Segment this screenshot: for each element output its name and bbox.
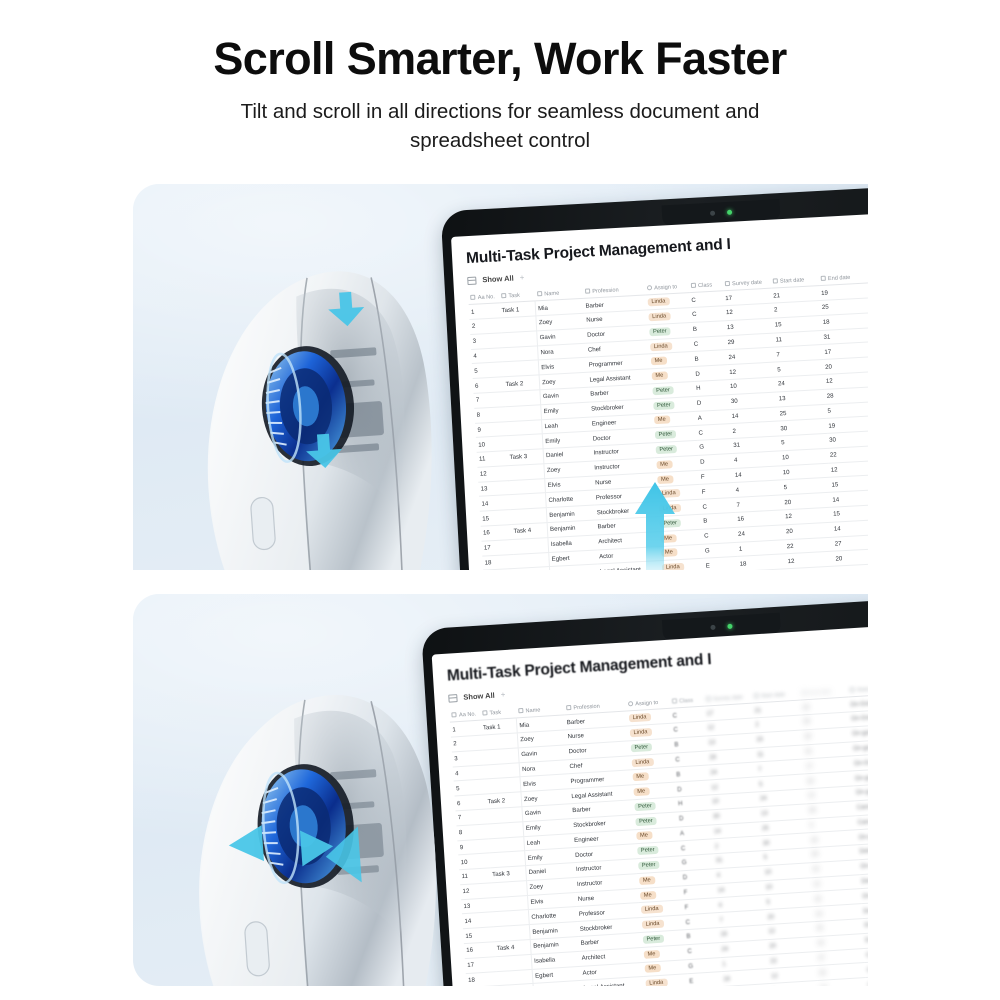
view-tab-show-all[interactable]: Show All: [463, 691, 495, 702]
column-header-label: Task: [489, 710, 501, 717]
person-icon: [628, 701, 633, 706]
assignee-tag[interactable]: Me: [656, 460, 672, 469]
column-header-label: End date: [828, 275, 851, 282]
cell-no[interactable]: 2: [469, 318, 500, 334]
cell-status[interactable]: On-Going: [867, 280, 868, 298]
cell-status[interactable]: On-going: [852, 768, 868, 786]
column-header-label: Start date: [780, 277, 805, 284]
add-view-button[interactable]: +: [500, 690, 505, 699]
cell-no[interactable]: 15: [480, 510, 511, 526]
cell-no[interactable]: 9: [475, 421, 506, 437]
assignee-tag[interactable]: Me: [654, 416, 670, 425]
column-header-label: Class: [698, 282, 712, 289]
calendar-icon: [724, 281, 729, 286]
assignee-tag[interactable]: Peter: [635, 816, 657, 825]
column-header-label: Status: [857, 686, 868, 693]
cell-status[interactable]: On-going: [851, 738, 868, 756]
table-view-icon: [448, 694, 457, 703]
cell-class[interactable]: E: [703, 557, 738, 570]
cell-no[interactable]: 17: [481, 539, 512, 555]
cell-no[interactable]: 13: [478, 480, 509, 496]
cell-status[interactable]: On-going: [853, 783, 868, 801]
cell-no[interactable]: 5: [472, 362, 503, 378]
column-header-label: Survey date: [732, 280, 762, 288]
add-view-button[interactable]: +: [519, 273, 524, 282]
assignee-tag[interactable]: Peter: [634, 802, 656, 811]
cell-no[interactable]: 8: [474, 406, 505, 422]
camera-icon: [710, 211, 715, 216]
column-header-label: Task: [508, 293, 520, 300]
assignee-tag[interactable]: Linda: [641, 920, 663, 929]
cell-status[interactable]: On-Going: [858, 856, 868, 874]
assignee-tag[interactable]: Peter: [653, 401, 675, 410]
assignee-tag[interactable]: Me: [639, 876, 655, 885]
assignee-tag[interactable]: Peter: [649, 327, 671, 336]
assignee-tag[interactable]: Peter: [654, 430, 676, 439]
assignee-tag[interactable]: Linda: [645, 979, 667, 986]
cell-status[interactable]: Canceled: [864, 945, 868, 963]
calendar-icon: [820, 276, 825, 281]
cell-no[interactable]: 3: [470, 333, 501, 349]
calendar-icon: [705, 696, 710, 701]
calendar-icon: [801, 690, 806, 695]
column-header-label: Profession: [573, 704, 600, 712]
assignee-tag[interactable]: Peter: [652, 386, 674, 395]
page-subtitle: Tilt and scroll in all directions for se…: [190, 97, 810, 155]
cell-status[interactable]: Delayed: [863, 930, 868, 948]
cell-status[interactable]: On-Going: [864, 960, 868, 978]
heading-block: Scroll Smarter, Work Faster Tilt and scr…: [0, 34, 1000, 155]
panel-vertical-scroll: Multi-Task Project Management and I Show…: [133, 184, 868, 570]
cell-status[interactable]: Canceled: [854, 797, 868, 815]
assignee-tag[interactable]: Linda: [629, 728, 651, 737]
cell-no[interactable]: 16: [481, 525, 512, 541]
text-icon: [470, 295, 475, 300]
cell-no[interactable]: 18: [482, 554, 513, 570]
assignee-tag[interactable]: Me: [636, 832, 652, 841]
cell-status[interactable]: Canceled: [855, 812, 868, 830]
person-icon: [646, 285, 651, 290]
cell-status[interactable]: Delayed: [857, 842, 868, 860]
arrow-up-icon: [633, 480, 677, 570]
text-icon: [537, 291, 542, 296]
assignee-tag[interactable]: Peter: [638, 861, 660, 870]
cell-no[interactable]: 4: [471, 347, 502, 363]
calendar-icon: [753, 693, 758, 698]
cell-no[interactable]: 12: [477, 466, 508, 482]
cell-no[interactable]: 18: [466, 971, 497, 986]
cell-no[interactable]: 14: [479, 495, 510, 511]
text-icon: [671, 698, 676, 703]
column-header-label: Survey date: [713, 695, 743, 703]
assignee-tag[interactable]: Peter: [655, 445, 677, 454]
column-header-label: Aa No.: [478, 294, 495, 301]
text-icon: [501, 293, 506, 298]
cell-status[interactable]: On-going: [860, 886, 868, 904]
cell-no[interactable]: 6: [473, 377, 504, 393]
text-icon: [585, 288, 590, 293]
product-feature-graphic: Scroll Smarter, Work Faster Tilt and scr…: [0, 0, 1000, 1000]
assignee-tag[interactable]: Linda: [631, 757, 653, 766]
wireless-mouse-tilt: [162, 671, 454, 986]
cell-status[interactable]: On-Going: [849, 709, 868, 727]
assignee-tag[interactable]: Linda: [648, 312, 670, 321]
assignee-tag[interactable]: Me: [643, 950, 659, 959]
column-header-label: Name: [544, 291, 559, 298]
panel-horizontal-tilt: Multi-Task Project Management and I Show…: [133, 594, 868, 986]
assignee-tag[interactable]: Me: [632, 773, 648, 782]
tablet-screen: Multi-Task Project Management and I Show…: [432, 618, 868, 986]
cell-status[interactable]: On-Going: [851, 753, 868, 771]
cell-no[interactable]: 10: [476, 436, 507, 452]
cell-assign[interactable]: Linda: [643, 974, 688, 986]
text-icon: [518, 708, 523, 713]
text-icon: [451, 712, 456, 717]
table-view-icon: [467, 276, 476, 284]
text-icon: [690, 283, 695, 288]
assignee-tag[interactable]: Peter: [642, 934, 664, 943]
assignee-tag[interactable]: Me: [650, 357, 666, 366]
assignee-tag[interactable]: Linda: [650, 342, 672, 351]
column-header-label: Class: [679, 698, 693, 705]
column-header-label: Profession: [592, 287, 619, 294]
cell-no[interactable]: 1: [469, 303, 500, 319]
column-header-label: End date: [809, 689, 832, 696]
assignee-tag[interactable]: Me: [651, 371, 667, 380]
select-icon: [849, 687, 854, 692]
spreadsheet-bottom: Multi-Task Project Management and I Show…: [432, 618, 868, 986]
assignee-tag[interactable]: Me: [640, 891, 656, 900]
assignee-tag[interactable]: Peter: [630, 743, 652, 752]
cell-status[interactable]: On-going: [862, 915, 868, 933]
cell-survey[interactable]: 18: [737, 554, 786, 570]
cell-class[interactable]: E: [687, 972, 722, 986]
camera-led-icon: [727, 624, 732, 629]
column-header-status[interactable]: Status: [847, 681, 868, 697]
cell-status[interactable]: Delayed: [861, 901, 868, 919]
assignee-tag[interactable]: Me: [644, 964, 660, 973]
cell-no[interactable]: 11: [477, 451, 508, 467]
cell-no[interactable]: 7: [473, 392, 504, 408]
assignee-tag[interactable]: Linda: [640, 905, 662, 914]
column-header-label: Aa No.: [459, 711, 476, 718]
cell-status[interactable]: On-going: [856, 827, 868, 845]
spreadsheet-grid[interactable]: Aa No.TaskNameProfessionAssign toClassSu…: [449, 679, 868, 986]
page-title: Scroll Smarter, Work Faster: [0, 34, 1000, 84]
cell-status[interactable]: On-going: [850, 724, 868, 742]
text-icon: [482, 710, 487, 715]
column-header-label: Assign to: [654, 284, 677, 291]
calendar-icon: [772, 278, 777, 283]
camera-icon: [710, 625, 715, 630]
assignee-tag[interactable]: Linda: [647, 297, 669, 306]
text-icon: [566, 705, 571, 710]
wireless-mouse-vertical: [174, 248, 446, 570]
assignee-tag[interactable]: Peter: [637, 846, 659, 855]
assignee-tag[interactable]: Linda: [628, 713, 650, 722]
cell-status[interactable]: Delayed: [859, 871, 868, 889]
tablet-device-bottom: Multi-Task Project Management and I Show…: [421, 594, 868, 986]
column-header-label: Start date: [761, 692, 786, 700]
view-tab-show-all[interactable]: Show All: [482, 274, 514, 285]
cell-status[interactable]: On-Going: [848, 694, 868, 712]
column-header-label: Name: [525, 707, 540, 714]
column-header-label: Assign to: [635, 700, 658, 707]
column-header-status[interactable]: Status: [866, 268, 868, 284]
cell-end[interactable]: 20: [833, 549, 868, 566]
camera-led-icon: [727, 210, 732, 215]
assignee-tag[interactable]: Me: [633, 787, 649, 796]
